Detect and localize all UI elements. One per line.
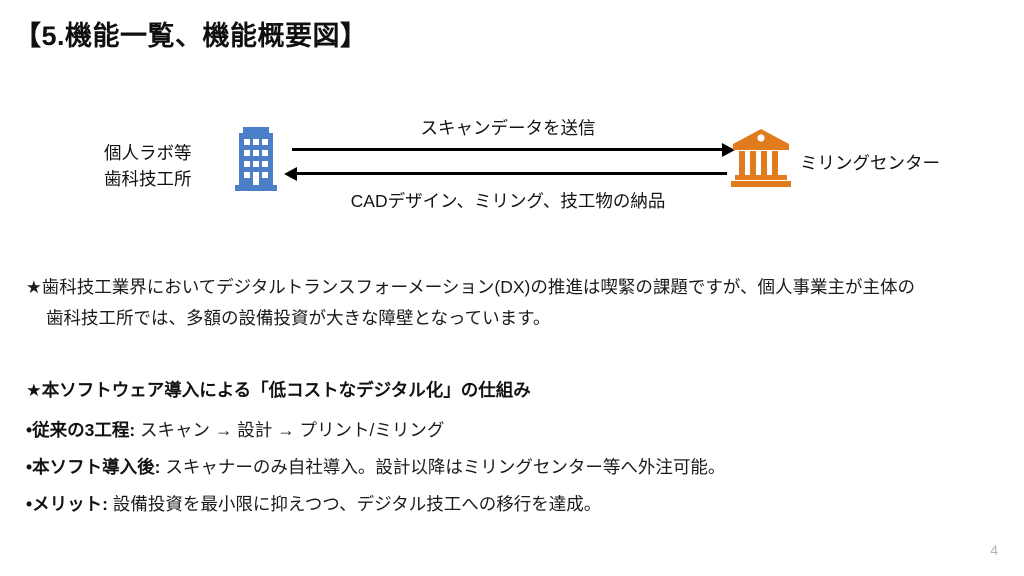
dental-lab-label: 個人ラボ等 歯科技工所	[104, 140, 192, 192]
list-item: •本ソフト導入後: スキャナーのみ自社導入。設計以降はミリングセンター等へ外注可…	[26, 449, 986, 486]
dental-lab-label-line2: 歯科技工所	[104, 166, 192, 192]
benefit-bullet-list: •従来の3工程: スキャン → 設計 → プリント/ミリング •本ソフト導入後:…	[26, 412, 986, 523]
workflow-diagram: 個人ラボ等 歯科技工所	[0, 100, 1024, 230]
intro-paragraph-line2: 歯科技工所では、多額の設備投資が大きな障壁となっています。	[26, 303, 1006, 334]
arrow-to-milling-center-label: スキャンデータを送信	[292, 115, 724, 140]
dental-lab-label-line1: 個人ラボ等	[104, 140, 192, 166]
arrow-to-dental-lab-head	[284, 167, 297, 181]
presentation-slide: 【5.機能一覧、機能概要図】 個人ラボ等 歯科技工所	[0, 0, 1024, 576]
page-title: 【5.機能一覧、機能概要図】	[14, 14, 368, 53]
list-item: •メリット: 設備投資を最小限に抑えつつ、デジタル技工への移行を達成。	[26, 486, 986, 523]
list-item: •従来の3工程: スキャン → 設計 → プリント/ミリング	[26, 412, 986, 449]
bullet-text: スキャン → 設計 → プリント/ミリング	[135, 420, 444, 440]
milling-center-label: ミリングセンター	[800, 150, 940, 176]
arrow-to-dental-lab	[297, 172, 727, 175]
bullet-text: スキャナーのみ自社導入。設計以降はミリングセンター等へ外注可能。	[160, 457, 725, 477]
bank-building-icon	[731, 129, 791, 187]
arrow-to-dental-lab-label: CADデザイン、ミリング、技工物の納品	[292, 188, 724, 213]
section-heading: ★本ソフトウェア導入による「低コストなデジタル化」の仕組み	[26, 377, 531, 402]
intro-paragraph: ★歯科技工業界においてデジタルトランスフォーメーション(DX)の推進は喫緊の課題…	[26, 272, 1006, 334]
office-building-icon	[231, 123, 281, 195]
arrow-to-milling-center	[292, 148, 724, 151]
page-number: 4	[990, 542, 998, 558]
bullet-lead: •メリット:	[26, 494, 108, 514]
bullet-lead: •従来の3工程:	[26, 420, 135, 440]
bullet-lead: •本ソフト導入後:	[26, 457, 160, 477]
intro-paragraph-line1: ★歯科技工業界においてデジタルトランスフォーメーション(DX)の推進は喫緊の課題…	[26, 277, 915, 297]
bullet-text: 設備投資を最小限に抑えつつ、デジタル技工への移行を達成。	[108, 494, 601, 514]
